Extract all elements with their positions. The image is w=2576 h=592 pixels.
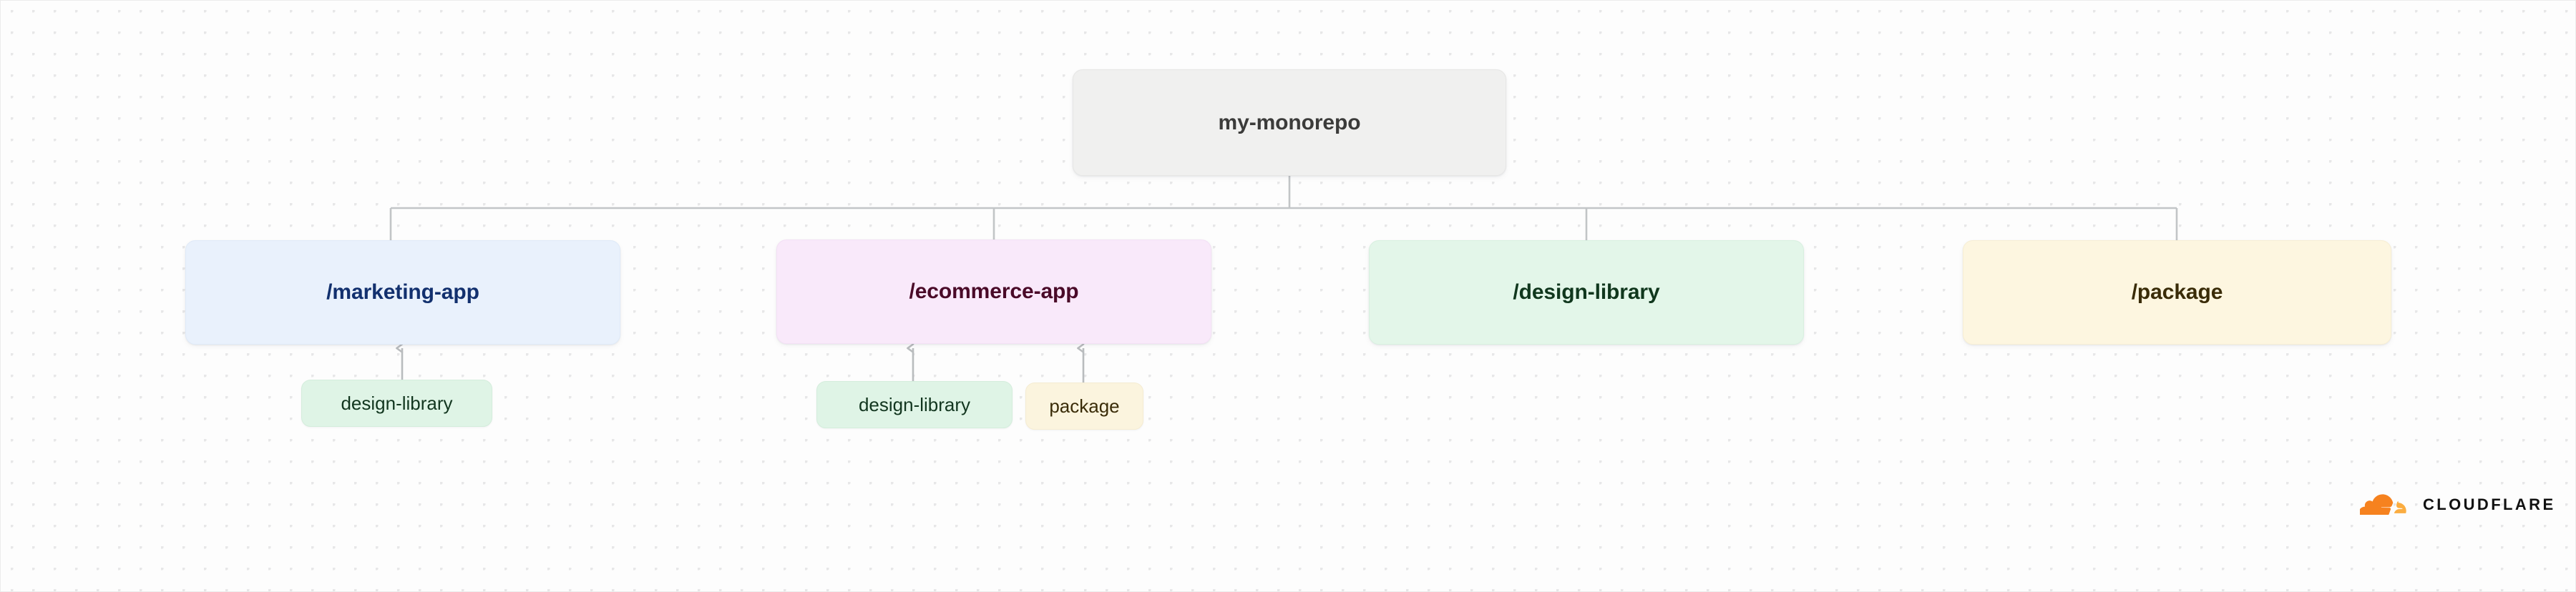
node-label: /marketing-app <box>326 280 479 305</box>
node-label: /package <box>2132 280 2223 305</box>
node-label: /ecommerce-app <box>909 280 1078 304</box>
dependency-tag-ecommerce-package[interactable]: package <box>1025 383 1143 430</box>
node-ecommerce-app[interactable]: /ecommerce-app <box>776 240 1211 344</box>
dependency-tag-label: design-library <box>859 394 970 416</box>
dependency-tag-label: design-library <box>341 393 452 415</box>
cloudflare-logo: CLOUDFLARE <box>2360 493 2556 517</box>
dependency-tag-label: package <box>1049 395 1119 418</box>
node-my-monorepo[interactable]: my-monorepo <box>1073 69 1506 176</box>
node-package[interactable]: /package <box>1963 240 2391 345</box>
node-design-library[interactable]: /design-library <box>1369 240 1804 345</box>
diagram-canvas: my-monorepo /marketing-app /ecommerce-ap… <box>0 0 2576 592</box>
dependency-tag-ecommerce-design-library[interactable]: design-library <box>816 381 1013 428</box>
dependency-tag-marketing-design-library[interactable]: design-library <box>301 380 492 427</box>
cloudflare-wordmark: CLOUDFLARE <box>2423 495 2556 514</box>
cloudflare-cloud-icon <box>2360 493 2416 517</box>
node-marketing-app[interactable]: /marketing-app <box>185 240 620 345</box>
node-label: /design-library <box>1513 280 1659 305</box>
node-label: my-monorepo <box>1219 111 1361 135</box>
